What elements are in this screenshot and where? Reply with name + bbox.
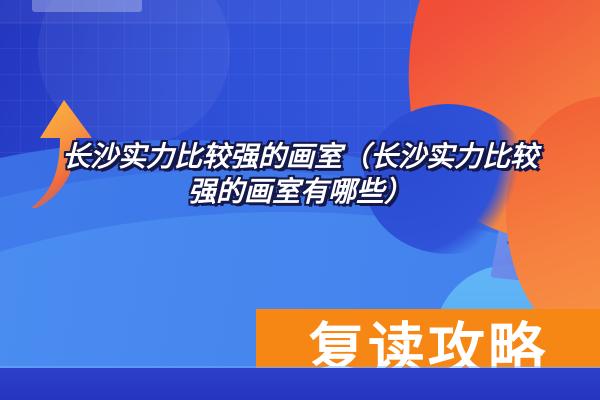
page-title: 长沙实力比较强的画室（长沙实力比较强的画室有哪些） bbox=[60, 139, 540, 209]
chip-top-left-decoration bbox=[32, 0, 142, 12]
bottom-band bbox=[0, 368, 600, 400]
poster-canvas: 长沙实力比较强的画室（长沙实力比较强的画室有哪些） 复读攻略 bbox=[0, 0, 600, 400]
